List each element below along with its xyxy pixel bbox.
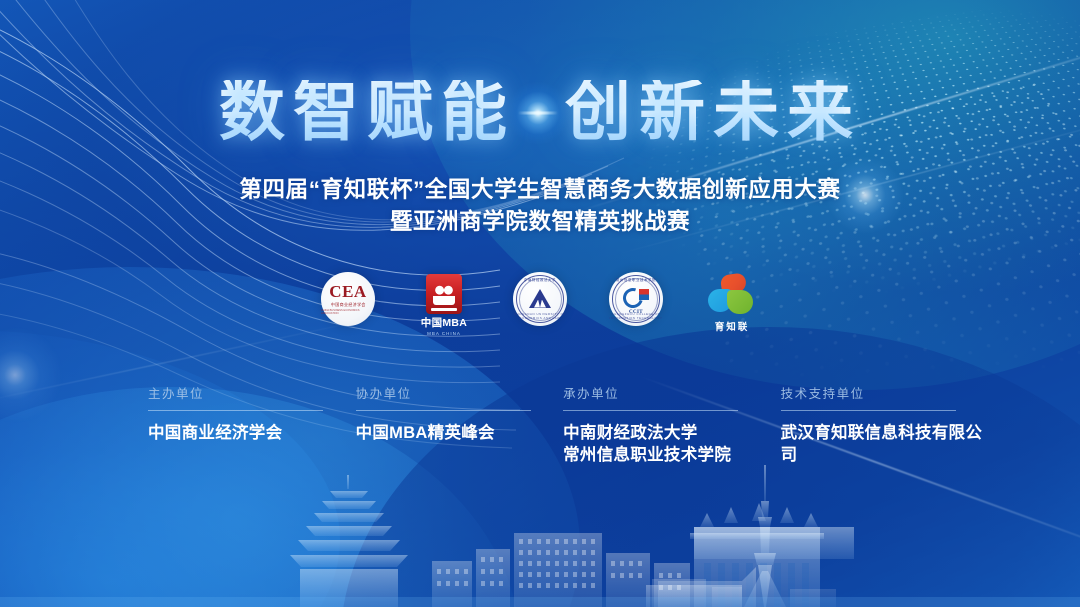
logo-zuel[interactable]: 中南财经政法大学 ZHONGNAN UNIVERSITY OF ECONOMIC… (509, 272, 571, 344)
logo-yuzhilian[interactable]: 育知联 (701, 272, 763, 344)
star-glow-icon (515, 90, 561, 136)
footer-divider (781, 410, 956, 411)
footer-column-undertaker: 承办单位 中南财经政法大学 常州信息职业技术学院 (563, 388, 780, 466)
footer-label-undertaker: 承办单位 (563, 388, 780, 401)
poster-content: 数智赋能创新未来 第四届“育知联杯”全国大学生智慧商务大数据创新应用大赛 暨亚洲… (0, 0, 1080, 607)
subtitle-line-1: 第四届“育知联杯”全国大学生智慧商务大数据创新应用大赛 (239, 177, 840, 202)
ccit-seal-icon: 常州信息职业技术学院 CCIT CHANGZHOU COLLEGE OF INF… (609, 272, 663, 326)
footer-divider (356, 410, 531, 411)
mba-chinese-text: 中国MBA (421, 318, 467, 329)
yuzhilian-emblem-icon (708, 274, 756, 316)
mba-english-text: MBA CHINA (427, 331, 461, 336)
logo-mba-china[interactable]: 中国MBA MBA CHINA (413, 272, 475, 344)
footer-column-host: 主办单位 中国商业经济学会 (148, 388, 356, 466)
yuzhilian-chinese-text: 育知联 (715, 319, 750, 333)
organizer-footer: 主办单位 中国商业经济学会 协办单位 中国MBA精英峰会 承办单位 中南财经政法… (148, 388, 998, 466)
zuel-ring-top-text: 中南财经政法大学 (513, 277, 567, 282)
ccit-glyph-icon (623, 288, 649, 310)
cea-english-text: CHINA BUSINESS ECONOMICS ASSOCIATION (321, 309, 375, 315)
mba-emblem-icon (426, 274, 462, 314)
footer-column-coorganizer: 协办单位 中国MBA精英峰会 (356, 388, 564, 466)
ccit-ring-bottom-text: CHANGZHOU COLLEGE OF INFORMATION TECHNOL… (609, 312, 663, 320)
footer-label-host: 主办单位 (148, 388, 356, 401)
logo-cea[interactable]: CEA 中国商业经济学会 CHINA BUSINESS ECONOMICS AS… (317, 272, 379, 344)
footer-label-tech-support: 技术支持单位 (781, 388, 998, 401)
cea-chinese-text: 中国商业经济学会 (331, 302, 366, 308)
title-left-text: 数智赋能 (219, 80, 515, 146)
cea-emblem-icon: CEA 中国商业经济学会 CHINA BUSINESS ECONOMICS AS… (321, 272, 375, 326)
footer-value-undertaker: 中南财经政法大学 常州信息职业技术学院 (563, 422, 780, 466)
event-poster: 数智赋能创新未来 第四届“育知联杯”全国大学生智慧商务大数据创新应用大赛 暨亚洲… (0, 0, 1080, 607)
footer-value-host: 中国商业经济学会 (148, 422, 356, 444)
subtitle-line-2: 暨亚洲商学院数智精英挑战赛 (0, 206, 1080, 238)
sponsor-logo-row: CEA 中国商业经济学会 CHINA BUSINESS ECONOMICS AS… (0, 272, 1080, 344)
footer-divider (148, 410, 323, 411)
subtitle: 第四届“育知联杯”全国大学生智慧商务大数据创新应用大赛 暨亚洲商学院数智精英挑战… (0, 174, 1080, 238)
page-title: 数智赋能创新未来 (0, 74, 1080, 146)
footer-value-tech-support: 武汉育知联信息科技有限公司 (781, 422, 998, 466)
footer-label-coorganizer: 协办单位 (356, 388, 564, 401)
footer-column-tech-support: 技术支持单位 武汉育知联信息科技有限公司 (781, 388, 998, 466)
zuel-glyph-icon (529, 291, 551, 308)
logo-ccit[interactable]: 常州信息职业技术学院 CCIT CHANGZHOU COLLEGE OF INF… (605, 272, 667, 344)
footer-value-coorganizer: 中国MBA精英峰会 (356, 422, 564, 444)
title-right-text: 创新未来 (565, 80, 861, 146)
cea-mark-text: CEA (329, 283, 366, 300)
zuel-seal-icon: 中南财经政法大学 ZHONGNAN UNIVERSITY OF ECONOMIC… (513, 272, 567, 326)
ccit-ring-top-text: 常州信息职业技术学院 (609, 277, 663, 282)
zuel-ring-bottom-text: ZHONGNAN UNIVERSITY OF ECONOMICS AND LAW (513, 312, 567, 320)
footer-divider (563, 410, 738, 411)
